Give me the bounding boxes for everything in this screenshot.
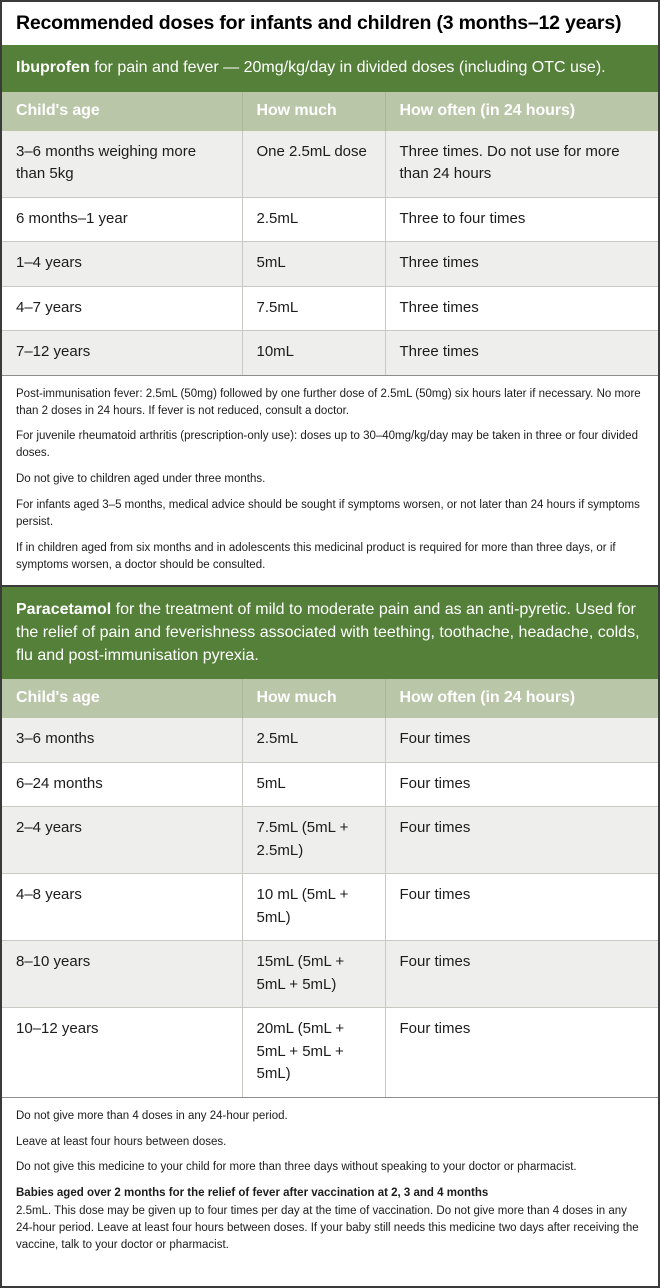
table-header-row: Child's age How much How often (in 24 ho…	[2, 679, 658, 718]
dosing-card: Recommended doses for infants and childr…	[0, 0, 660, 1288]
note-item: If in children aged from six months and …	[16, 540, 644, 574]
ibuprofen-notes: Post-immunisation fever: 2.5mL (50mg) fo…	[2, 376, 658, 585]
cell-age: 8–10 years	[2, 941, 242, 1008]
cell-amount: 5mL	[242, 762, 385, 807]
table-row: 1–4 years 5mL Three times	[2, 242, 658, 287]
cell-amount: 10 mL (5mL + 5mL)	[242, 874, 385, 941]
note-item: Do not give to children aged under three…	[16, 471, 644, 488]
bottom-spacer	[2, 1265, 658, 1286]
note-item: Post-immunisation fever: 2.5mL (50mg) fo…	[16, 386, 644, 420]
cell-frequency: Four times	[385, 1008, 658, 1098]
note-item: Do not give this medicine to your child …	[16, 1159, 644, 1176]
cell-frequency: Four times	[385, 762, 658, 807]
cell-frequency: Four times	[385, 718, 658, 762]
table-row: 4–8 years 10 mL (5mL + 5mL) Four times	[2, 874, 658, 941]
column-header-age: Child's age	[2, 92, 242, 131]
cell-age: 4–7 years	[2, 286, 242, 331]
table-row: 6 months–1 year 2.5mL Three to four time…	[2, 197, 658, 242]
note-item: Leave at least four hours between doses.	[16, 1134, 644, 1151]
vaccination-note-heading: Babies aged over 2 months for the relief…	[16, 1185, 644, 1202]
cell-frequency: Three to four times	[385, 197, 658, 242]
cell-frequency: Three times	[385, 331, 658, 376]
column-header-frequency: How often (in 24 hours)	[385, 92, 658, 131]
note-item: For infants aged 3–5 months, medical adv…	[16, 497, 644, 531]
table-row: 4–7 years 7.5mL Three times	[2, 286, 658, 331]
column-header-amount: How much	[242, 679, 385, 718]
cell-frequency: Three times. Do not use for more than 24…	[385, 131, 658, 198]
paracetamol-notes: Do not give more than 4 doses in any 24-…	[2, 1098, 658, 1265]
ibuprofen-dose-table: Child's age How much How often (in 24 ho…	[2, 92, 658, 376]
paracetamol-intro-band: Paracetamol for the treatment of mild to…	[2, 587, 658, 680]
cell-amount: 20mL (5mL + 5mL + 5mL + 5mL)	[242, 1008, 385, 1098]
table-row: 3–6 months 2.5mL Four times	[2, 718, 658, 762]
table-row: 3–6 months weighing more than 5kg One 2.…	[2, 131, 658, 198]
ibuprofen-drug-name: Ibuprofen	[16, 59, 90, 76]
table-row: 8–10 years 15mL (5mL + 5mL + 5mL) Four t…	[2, 941, 658, 1008]
cell-amount: 15mL (5mL + 5mL + 5mL)	[242, 941, 385, 1008]
cell-amount: 2.5mL	[242, 197, 385, 242]
cell-amount: 10mL	[242, 331, 385, 376]
cell-frequency: Four times	[385, 874, 658, 941]
cell-amount: 2.5mL	[242, 718, 385, 762]
cell-frequency: Three times	[385, 242, 658, 287]
cell-age: 10–12 years	[2, 1008, 242, 1098]
cell-age: 7–12 years	[2, 331, 242, 376]
cell-age: 6–24 months	[2, 762, 242, 807]
cell-frequency: Three times	[385, 286, 658, 331]
ibuprofen-intro-band: Ibuprofen for pain and fever — 20mg/kg/d…	[2, 45, 658, 91]
page-title: Recommended doses for infants and childr…	[16, 12, 644, 34]
cell-age: 3–6 months weighing more than 5kg	[2, 131, 242, 198]
note-item: Do not give more than 4 doses in any 24-…	[16, 1108, 644, 1125]
cell-age: 6 months–1 year	[2, 197, 242, 242]
vaccination-note-body: 2.5mL. This dose may be given up to four…	[16, 1203, 644, 1254]
cell-age: 4–8 years	[2, 874, 242, 941]
cell-frequency: Four times	[385, 941, 658, 1008]
cell-amount: 7.5mL (5mL + 2.5mL)	[242, 807, 385, 874]
table-row: 6–24 months 5mL Four times	[2, 762, 658, 807]
column-header-amount: How much	[242, 92, 385, 131]
vaccination-heading-text: Babies aged over 2 months for the relief…	[16, 1187, 488, 1199]
paracetamol-drug-name: Paracetamol	[16, 601, 111, 618]
table-header-row: Child's age How much How often (in 24 ho…	[2, 92, 658, 131]
card-title-band: Recommended doses for infants and childr…	[2, 2, 658, 45]
cell-amount: 7.5mL	[242, 286, 385, 331]
cell-age: 1–4 years	[2, 242, 242, 287]
cell-frequency: Four times	[385, 807, 658, 874]
cell-age: 2–4 years	[2, 807, 242, 874]
cell-amount: 5mL	[242, 242, 385, 287]
note-item: For juvenile rheumatoid arthritis (presc…	[16, 428, 644, 462]
table-row: 10–12 years 20mL (5mL + 5mL + 5mL + 5mL)…	[2, 1008, 658, 1098]
ibuprofen-intro-text: for pain and fever — 20mg/kg/day in divi…	[90, 59, 606, 76]
paracetamol-dose-table: Child's age How much How often (in 24 ho…	[2, 679, 658, 1098]
column-header-frequency: How often (in 24 hours)	[385, 679, 658, 718]
cell-amount: One 2.5mL dose	[242, 131, 385, 198]
cell-age: 3–6 months	[2, 718, 242, 762]
table-row: 7–12 years 10mL Three times	[2, 331, 658, 376]
table-row: 2–4 years 7.5mL (5mL + 2.5mL) Four times	[2, 807, 658, 874]
column-header-age: Child's age	[2, 679, 242, 718]
